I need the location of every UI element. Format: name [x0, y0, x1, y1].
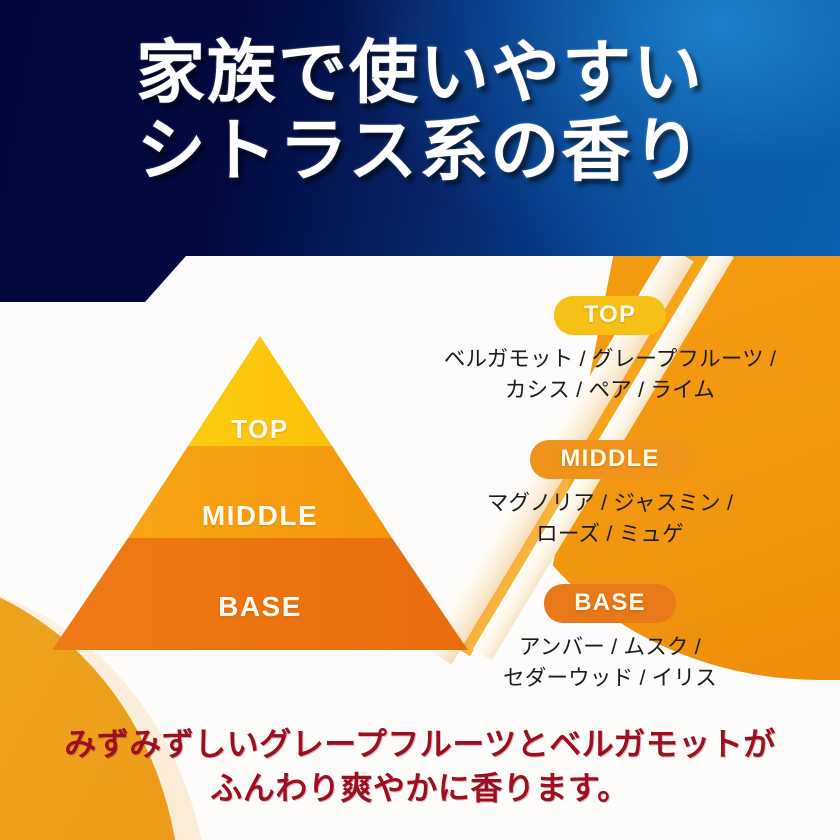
footer-tagline: みずみずしいグレープフルーツとベルガモットが ふんわり爽やかに香ります。	[0, 722, 840, 810]
promo-graphic: 家族で使いやすい シトラス系の香り TOP MIDDLE BASE	[0, 0, 840, 840]
note-top-text: ベルガモット / グレープフルーツ / カシス / ペア / ライム	[400, 344, 820, 406]
badge-base: BASE	[544, 584, 675, 623]
note-middle: MIDDLE マグノリア / ジャスミン / ローズ / ミュゲ	[400, 440, 820, 550]
note-base-text: アンバー / ムスク / セダーウッド / イリス	[400, 632, 820, 694]
pyramid-layer-middle	[128, 446, 392, 538]
note-middle-text: マグノリア / ジャスミン / ローズ / ミュゲ	[400, 488, 820, 550]
badge-top: TOP	[554, 296, 667, 335]
fragrance-notes-list: TOP ベルガモット / グレープフルーツ / カシス / ペア / ライム M…	[400, 296, 820, 702]
note-base: BASE アンバー / ムスク / セダーウッド / イリス	[400, 584, 820, 694]
badge-middle: MIDDLE	[530, 440, 689, 479]
pyramid-layer-top	[188, 336, 332, 446]
note-top: TOP ベルガモット / グレープフルーツ / カシス / ペア / ライム	[400, 296, 820, 406]
page-title: 家族で使いやすい シトラス系の香り	[0, 34, 840, 190]
